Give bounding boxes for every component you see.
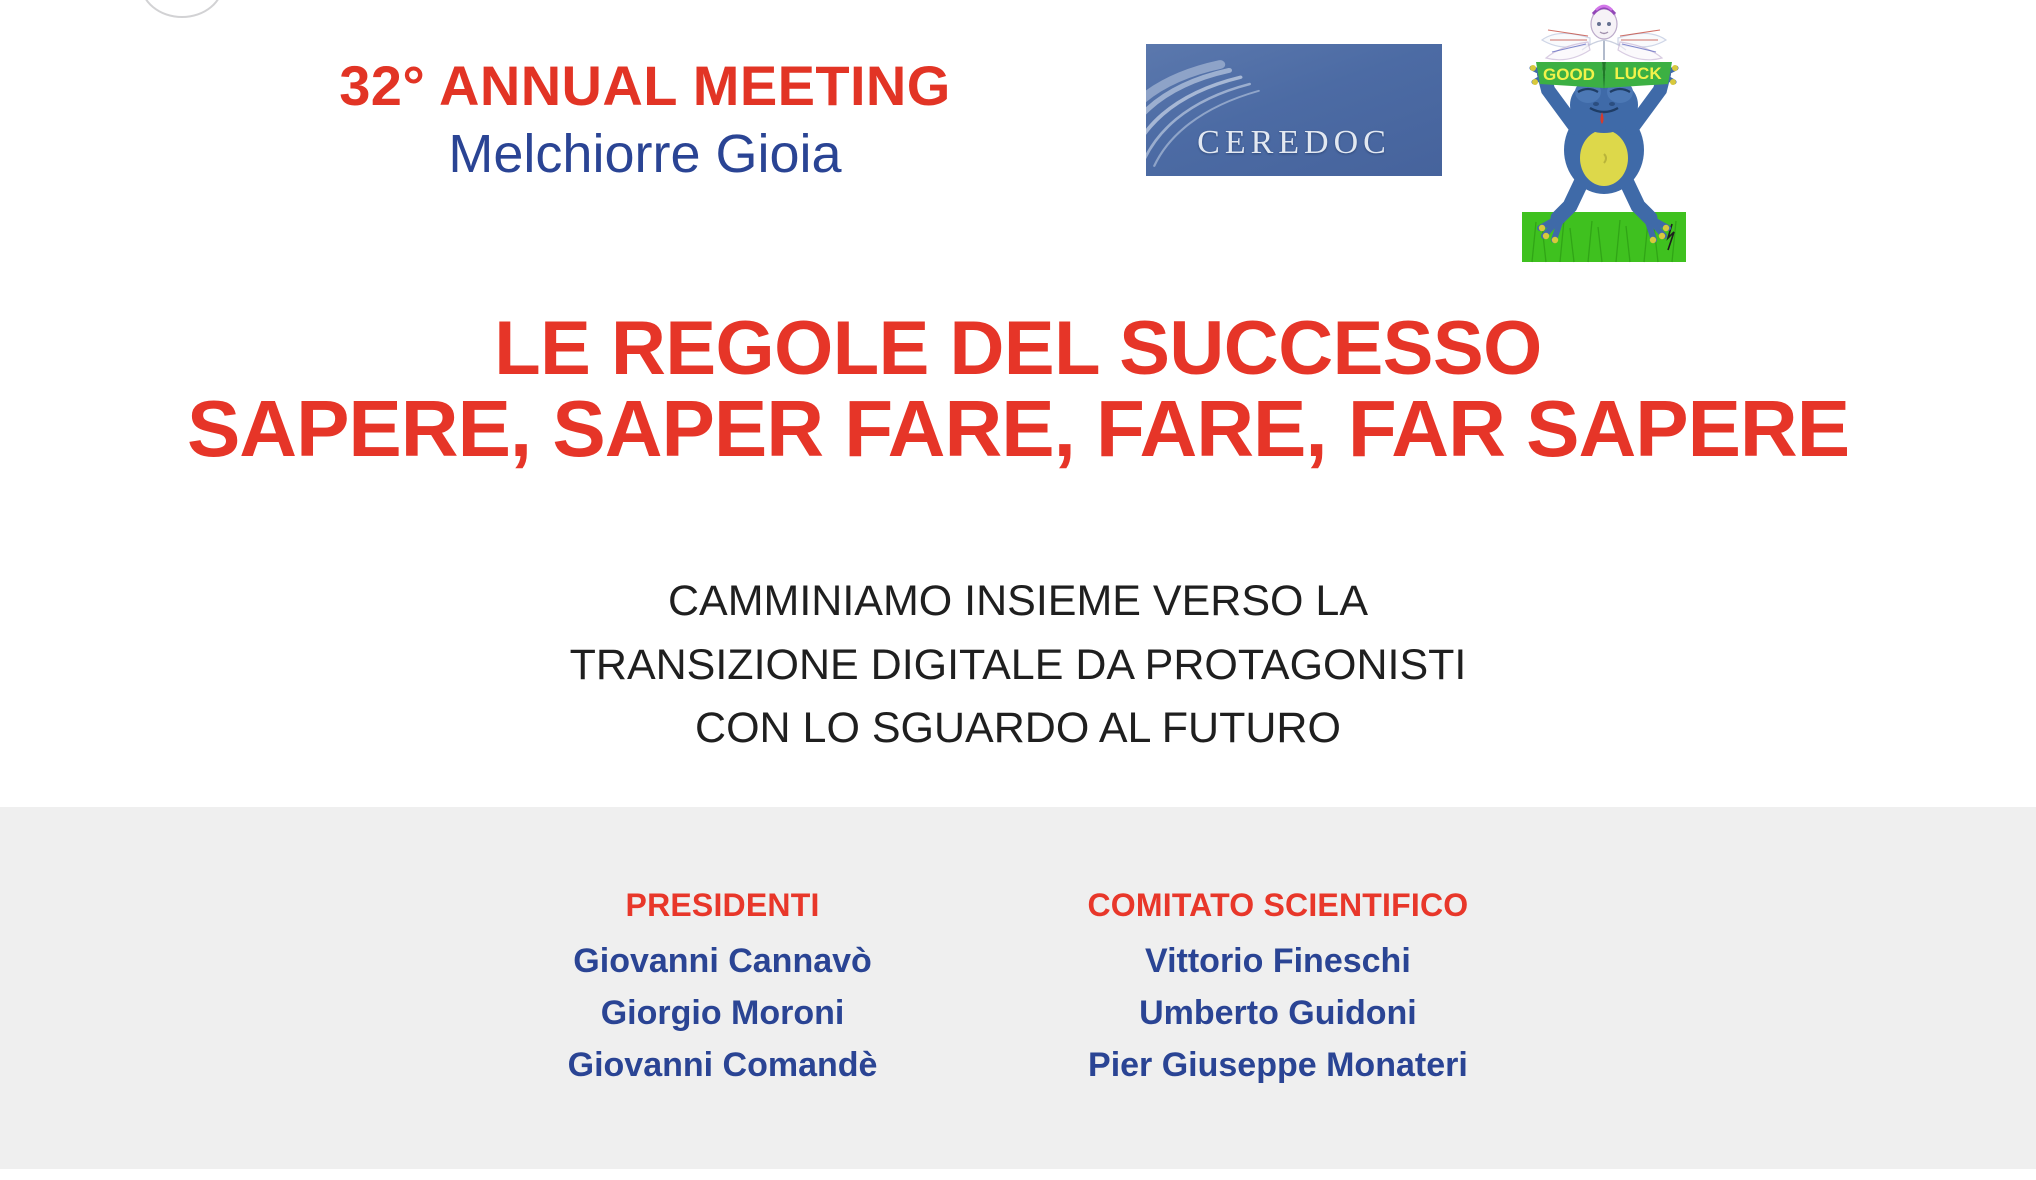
- poster-bottom-margin: [0, 1169, 2036, 1180]
- mascot-banner-right-label: LUCK: [1614, 64, 1662, 83]
- committee-heading: COMITATO SCIENTIFICO: [1087, 887, 1468, 924]
- event-subtitle-line1: CAMMINIAMO INSIEME VERSO LA: [0, 570, 2036, 634]
- poster-top-panel: 32° ANNUAL MEETING Melchiorre Gioia CERE…: [0, 0, 2036, 807]
- committee-presidenti: PRESIDENTI Giovanni Cannavò Giorgio Moro…: [568, 887, 878, 1097]
- decorative-circle: [140, 0, 224, 18]
- meeting-title: 32° ANNUAL MEETING: [0, 55, 1290, 118]
- committee-member: Giorgio Moroni: [568, 993, 878, 1033]
- ceredoc-wordmark: CEREDOC: [1146, 124, 1442, 162]
- committee-band: PRESIDENTI Giovanni Cannavò Giorgio Moro…: [0, 807, 2036, 1169]
- committee-member: Pier Giuseppe Monateri: [1087, 1045, 1468, 1085]
- mascot-banner-left-label: GOOD: [1543, 65, 1595, 84]
- event-subtitle: CAMMINIAMO INSIEME VERSO LA TRANSIZIONE …: [0, 570, 2036, 761]
- main-title-line1: LE REGOLE DEL SUCCESSO: [494, 306, 1542, 391]
- committee-member: Umberto Guidoni: [1087, 993, 1468, 1033]
- ceredoc-logo: CEREDOC: [1146, 44, 1442, 176]
- good-luck-mascot-icon: GOOD LUCK: [1518, 0, 1690, 266]
- main-title: LE REGOLE DEL SUCCESSO SAPERE, SAPER FAR…: [0, 310, 2036, 469]
- event-subtitle-line3: CON LO SGUARDO AL FUTURO: [0, 697, 2036, 761]
- event-subtitle-line2: TRANSIZIONE DIGITALE DA PROTAGONISTI: [0, 634, 2036, 698]
- committee-member: Giovanni Cannavò: [568, 941, 878, 981]
- committee-member: Giovanni Comandè: [568, 1045, 878, 1085]
- committee-heading: PRESIDENTI: [568, 887, 878, 924]
- committee-member: Vittorio Fineschi: [1087, 941, 1468, 981]
- meeting-header: 32° ANNUAL MEETING Melchiorre Gioia: [0, 55, 1290, 187]
- main-title-line2: SAPERE, SAPER FARE, FARE, FAR SAPERE: [0, 388, 2036, 470]
- conference-poster: 32° ANNUAL MEETING Melchiorre Gioia CERE…: [0, 0, 2036, 1180]
- meeting-organization: Melchiorre Gioia: [0, 122, 1290, 187]
- committee-columns: PRESIDENTI Giovanni Cannavò Giorgio Moro…: [0, 887, 2036, 1097]
- committee-comitato-scientifico: COMITATO SCIENTIFICO Vittorio Fineschi U…: [1087, 887, 1468, 1097]
